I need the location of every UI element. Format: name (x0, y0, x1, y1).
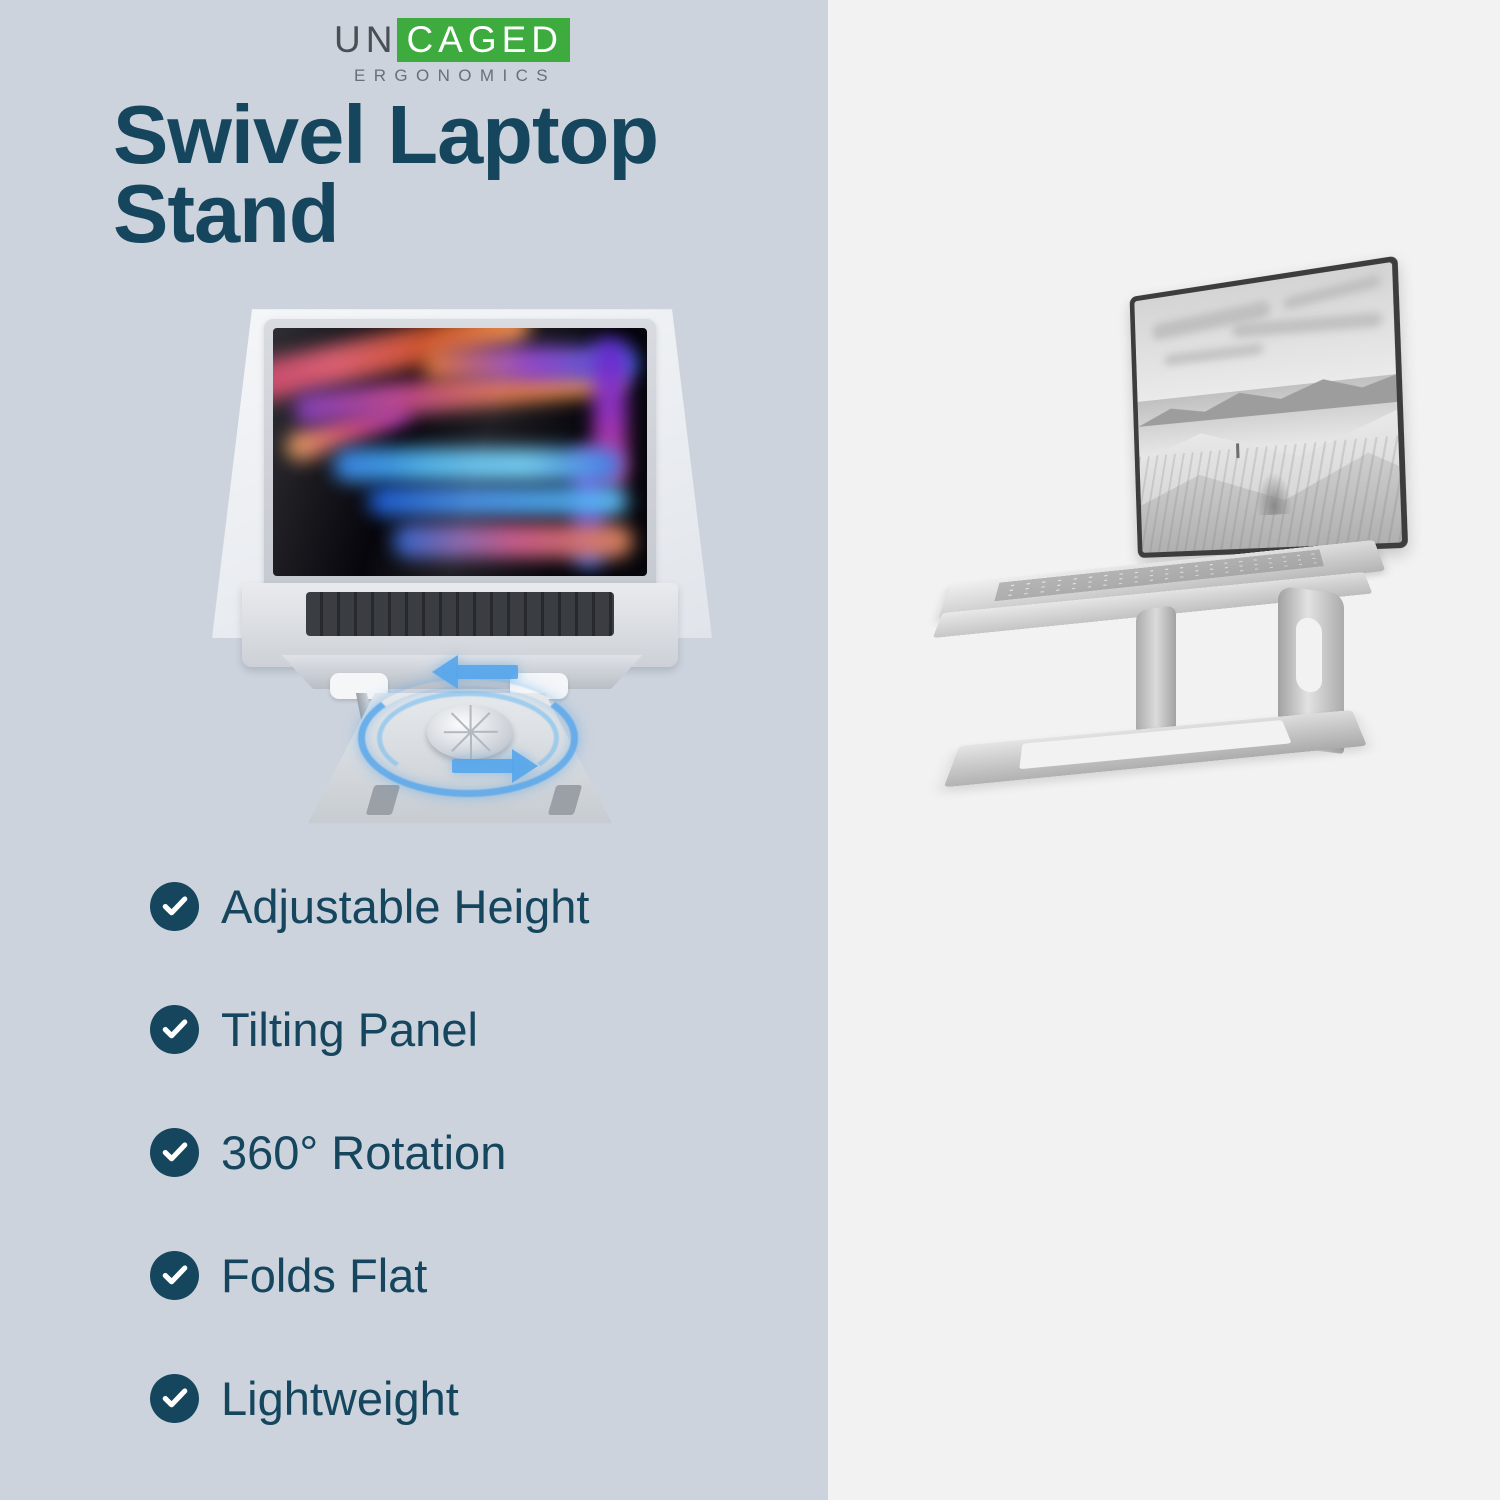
comparison-infographic: UN CAGED ERGONOMICS Swivel Laptop Stand (0, 0, 1500, 1500)
feature-row-360-rotation: 360° Rotation (150, 1126, 589, 1178)
check-icon (150, 1128, 199, 1177)
feature-label: Tilting Panel (221, 1006, 478, 1053)
feature-label: 360° Rotation (221, 1129, 506, 1176)
laptop-keyboard (306, 592, 614, 636)
feature-label: Lightweight (221, 1375, 459, 1422)
left-panel-product: UN CAGED ERGONOMICS Swivel Laptop Stand (0, 0, 828, 1500)
brand-tagline: ERGONOMICS (334, 66, 572, 86)
rotation-arrow-right-tail (452, 759, 514, 773)
feature-label: Folds Flat (221, 1252, 427, 1299)
pro-feature-list: Adjustable Height Tilting Panel 360° Rot… (150, 880, 589, 1424)
wallpaper-figure (1236, 444, 1240, 459)
feature-row-folds-flat: Folds Flat (150, 1249, 589, 1301)
competitor-laptop-screen (1134, 262, 1402, 553)
brand-name-highlight: CAGED (397, 18, 570, 62)
rotation-arrow-right-icon (512, 749, 538, 783)
competitor-laptop-lid (1130, 256, 1409, 558)
laptop-screen (273, 328, 647, 576)
brand-logo: UN CAGED ERGONOMICS (334, 18, 574, 86)
screen-glare (273, 328, 647, 576)
feature-row-adjustable-height: Adjustable Height (150, 880, 589, 932)
left-panel-title: Swivel Laptop Stand (113, 96, 813, 254)
laptop-keyboard-deck (242, 583, 678, 667)
competitor-stand-cutout (1296, 616, 1322, 693)
swivel-hub (427, 705, 513, 759)
swivel-hub-spokes (427, 705, 513, 759)
swivel-stand-illustration (180, 295, 740, 835)
feature-row-lightweight: Lightweight (150, 1372, 589, 1424)
check-icon (150, 1374, 199, 1423)
rotation-arrow-left-tail (456, 665, 518, 679)
feature-label: Adjustable Height (221, 883, 589, 930)
feature-row-tilting-panel: Tilting Panel (150, 1003, 589, 1055)
check-icon (150, 1251, 199, 1300)
check-icon (150, 882, 199, 931)
laptop-lid (264, 319, 656, 587)
brand-wordmark: UN CAGED (334, 18, 574, 62)
brand-name-prefix: UN (334, 18, 397, 62)
fixed-stand-illustration (958, 290, 1458, 820)
right-panel-competitor: Other (828, 0, 1500, 1500)
check-icon (150, 1005, 199, 1054)
rotation-arrow-left-icon (432, 655, 458, 689)
wallpaper-shrub (1255, 471, 1292, 516)
